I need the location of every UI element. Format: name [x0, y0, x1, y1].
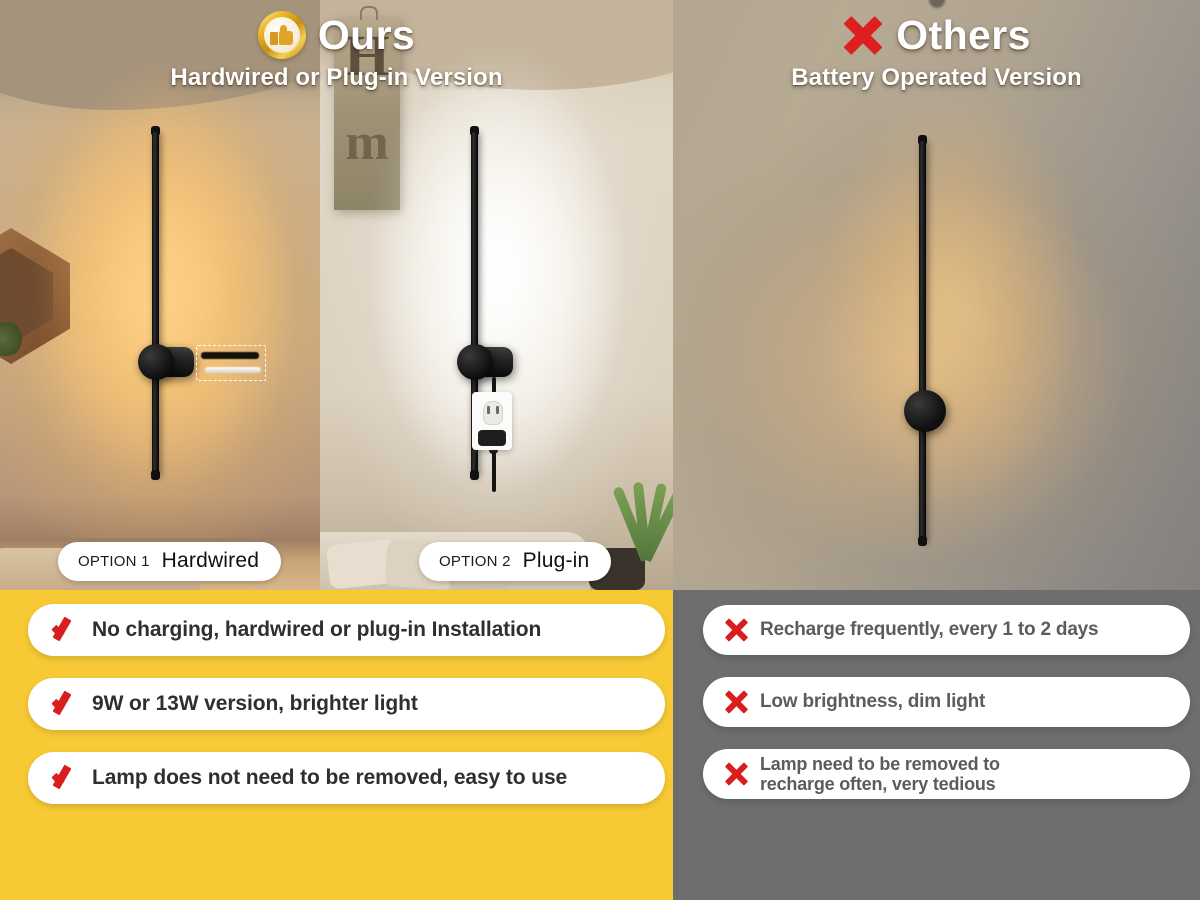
lamp-hub-disc [138, 344, 174, 380]
check-icon [50, 689, 80, 719]
lamp-hardwired [0, 0, 320, 590]
wall-outlet [472, 392, 512, 450]
lamp-bar-upper [152, 132, 159, 354]
option2-value: Plug-in [523, 549, 590, 573]
lamp-hub-disc [457, 344, 493, 380]
x-icon [723, 689, 749, 715]
check-icon [50, 763, 80, 793]
feature-item-others: Lamp need to be removed to recharge ofte… [703, 749, 1190, 799]
photo-option1-hardwired [0, 0, 320, 590]
feature-text: Lamp need to be removed to recharge ofte… [760, 754, 1000, 794]
outlet-socket [483, 401, 503, 425]
feature-panels: No charging, hardwired or plug-in Instal… [0, 590, 1200, 900]
panel-ours: No charging, hardwired or plug-in Instal… [0, 590, 673, 900]
option1-value: Hardwired [162, 549, 260, 573]
hardwire-callout-box [196, 345, 266, 381]
feature-text: No charging, hardwired or plug-in Instal… [92, 618, 541, 642]
feature-item-ours: 9W or 13W version, brighter light [28, 678, 665, 730]
house-plant [615, 450, 673, 560]
option2-label: OPTION 2 [439, 553, 511, 570]
feature-item-ours: Lamp does not need to be removed, easy t… [28, 752, 665, 804]
lamp-bar-upper [471, 132, 478, 354]
option-pill-hardwired: OPTION 1 Hardwired [58, 542, 281, 581]
feature-text: Low brightness, dim light [760, 691, 985, 712]
lamp-bar-upper [919, 141, 926, 405]
feature-item-ours: No charging, hardwired or plug-in Instal… [28, 604, 665, 656]
wire-white [205, 367, 261, 373]
lamp-bottom-cap [918, 536, 927, 546]
lamp-battery [673, 0, 1200, 590]
feature-text: Recharge frequently, every 1 to 2 days [760, 619, 1098, 640]
check-icon [50, 615, 80, 645]
wire-black [201, 352, 259, 359]
photo-option2-plugin: H m [320, 0, 673, 590]
feature-text: Lamp does not need to be removed, easy t… [92, 766, 567, 790]
plug-body [478, 430, 506, 446]
option1-label: OPTION 1 [78, 553, 150, 570]
panel-others: Recharge frequently, every 1 to 2 days L… [673, 590, 1200, 900]
option-pill-plugin: OPTION 2 Plug-in [419, 542, 611, 581]
feature-item-others: Low brightness, dim light [703, 677, 1190, 727]
photo-battery-lamp [673, 0, 1200, 590]
feature-item-others: Recharge frequently, every 1 to 2 days [703, 605, 1190, 655]
feature-text: 9W or 13W version, brighter light [92, 692, 418, 716]
x-icon [723, 617, 749, 643]
lamp-bottom-cap [151, 470, 160, 480]
lamp-hub-disc [904, 390, 946, 432]
lamp-bottom-cap [470, 470, 479, 480]
comparison-infographic: H m [0, 0, 1200, 900]
photo-strip: H m [0, 0, 1200, 590]
x-icon [723, 761, 749, 787]
